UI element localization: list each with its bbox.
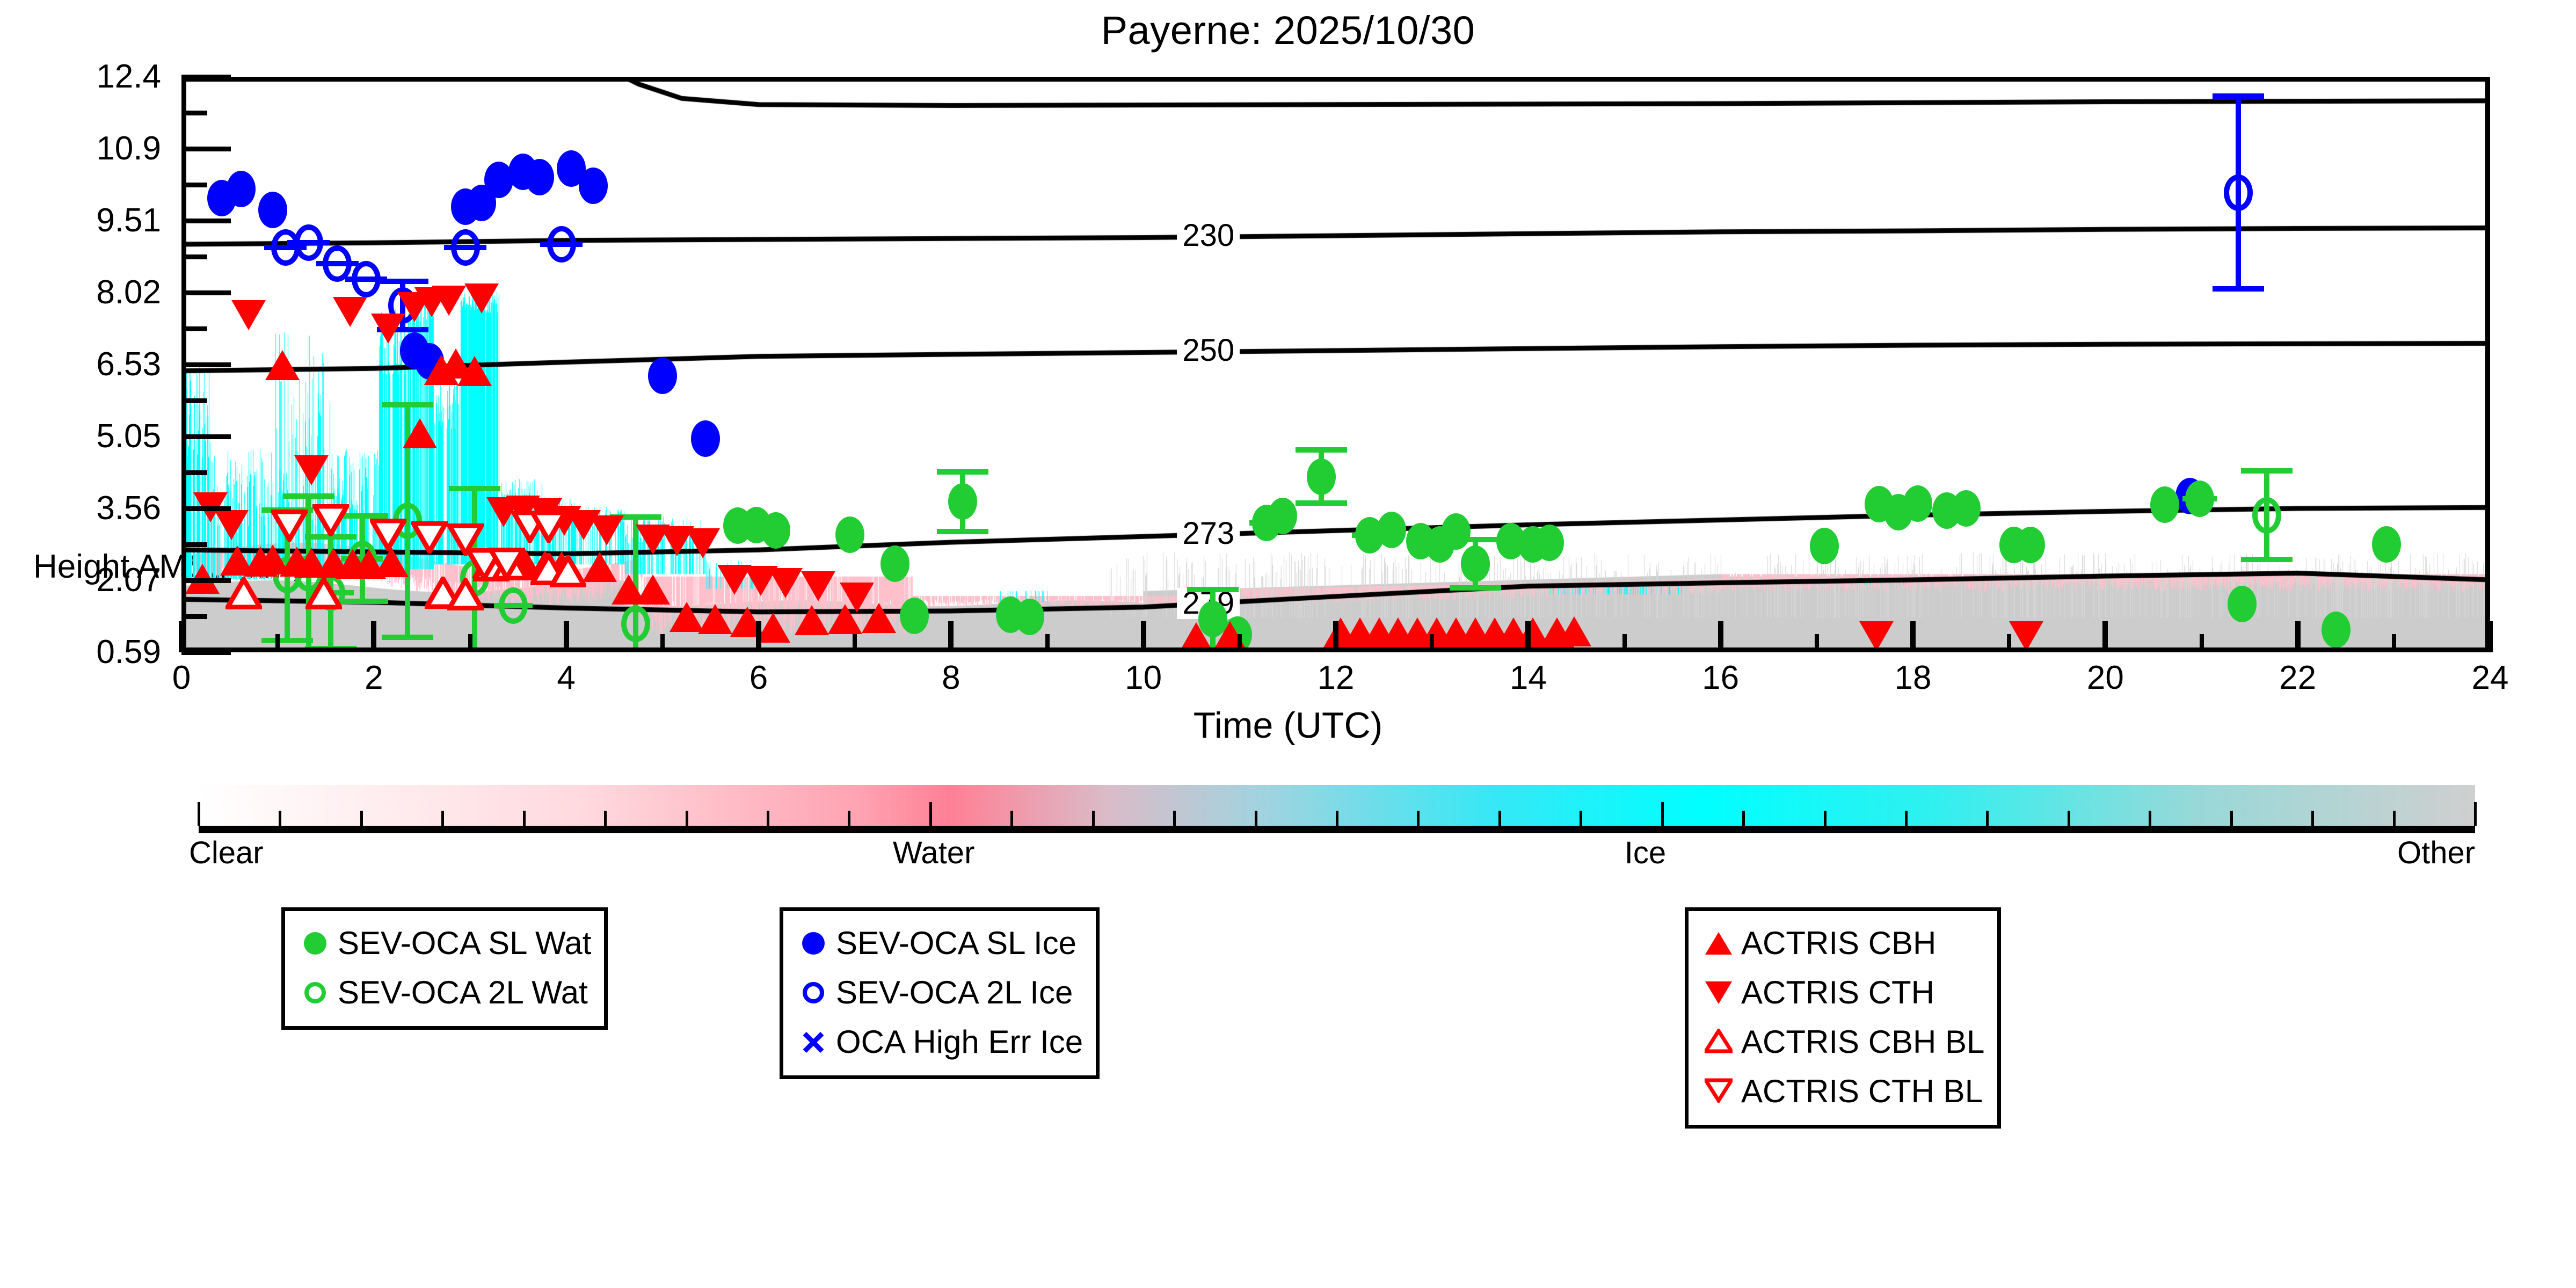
x-minor-tick <box>2200 634 2204 652</box>
colorbar-tick <box>198 802 200 826</box>
colorbar-label: Other <box>2397 838 2475 869</box>
colorbar-tick <box>2068 811 2070 826</box>
y-tick-label: 8.02 <box>0 276 161 309</box>
y-tick-label: 9.51 <box>0 204 161 237</box>
legend-label: ACTRIS CBH BL <box>1738 1026 1984 1058</box>
y-minor-tick <box>181 398 207 403</box>
y-minor-tick <box>181 183 207 187</box>
filled-circle-icon <box>304 932 326 955</box>
plot-frame <box>181 77 2490 652</box>
x-tick-label: 18 <box>1859 661 1967 695</box>
actris-legend: ACTRIS CBHACTRIS CTHACTRIS CBH BLACTRIS … <box>1685 907 2001 1129</box>
x-minor-tick <box>1622 634 1627 652</box>
legend-label: SEV-OCA 2L Wat <box>334 977 588 1009</box>
x-minor-tick <box>853 634 857 652</box>
x-minor-tick <box>275 634 280 652</box>
x-tick-mark <box>756 621 761 652</box>
x-tick-label: 2 <box>320 661 427 695</box>
x-tick-label: 10 <box>1090 661 1197 695</box>
colorbar-tick <box>1336 811 1338 826</box>
x-tick-mark <box>179 621 184 652</box>
x-tick-mark <box>371 621 376 652</box>
colorbar-tick <box>2474 802 2477 826</box>
colorbar-tick <box>441 811 444 826</box>
colorbar-tick <box>686 811 688 826</box>
y-tick-label: 12.4 <box>0 60 161 93</box>
cross-icon <box>801 1030 826 1054</box>
x-minor-tick <box>1238 634 1242 652</box>
x-tick-label: 20 <box>2051 661 2159 695</box>
y-tick-mark <box>181 578 231 583</box>
colorbar-label: Water <box>893 838 975 869</box>
x-tick-label: 0 <box>128 661 235 695</box>
colorbar-tick <box>1417 811 1420 826</box>
x-minor-tick <box>1045 634 1050 652</box>
colorbar-tick <box>929 802 932 826</box>
x-tick-mark <box>1910 621 1916 652</box>
x-tick-label: 14 <box>1474 661 1582 695</box>
colorbar-tick <box>1661 802 1664 826</box>
open-circle-icon <box>803 982 824 1003</box>
colorbar-tick <box>2230 811 2233 826</box>
y-minor-tick <box>181 470 207 475</box>
colorbar-tick <box>604 811 607 826</box>
colorbar-tick <box>279 811 281 826</box>
page-title: Payerne: 2025/10/30 <box>0 8 2576 53</box>
x-tick-mark <box>2487 621 2493 652</box>
legend-label: OCA High Err Ice <box>833 1026 1083 1058</box>
colorbar-label: Ice <box>1625 838 1666 869</box>
legend-item[interactable]: ACTRIS CTH BL <box>1699 1067 1984 1116</box>
legend-item[interactable]: ACTRIS CTH <box>1699 968 1984 1017</box>
x-tick-mark <box>1525 621 1531 652</box>
x-tick-label: 24 <box>2436 661 2544 695</box>
filled-circle-icon <box>802 932 825 955</box>
legend-label: SEV-OCA SL Wat <box>334 927 591 959</box>
legend-item[interactable]: SEV-OCA 2L Wat <box>296 968 591 1017</box>
y-tick-label: 5.05 <box>0 420 161 453</box>
x-tick-label: 16 <box>1667 661 1774 695</box>
colorbar-tick <box>1092 811 1095 826</box>
x-minor-tick <box>660 634 665 652</box>
colorbar-tick <box>2149 811 2151 826</box>
colorbar-tick <box>848 811 850 826</box>
y-tick-mark <box>181 362 231 367</box>
colorbar-tick <box>1010 811 1013 826</box>
x-tick-mark <box>2102 621 2108 652</box>
colorbar-tick <box>1580 811 1582 826</box>
x-tick-label: 4 <box>513 661 620 695</box>
x-tick-label: 12 <box>1282 661 1389 695</box>
colorbar-axis <box>199 826 2475 833</box>
y-tick-mark <box>181 506 231 511</box>
y-minor-tick <box>181 111 207 115</box>
x-tick-mark <box>1333 621 1338 652</box>
colorbar-tick <box>360 811 363 826</box>
open-triangle-down-icon <box>1705 1078 1733 1105</box>
legend-label: ACTRIS CTH <box>1738 977 1934 1009</box>
colorbar-tick <box>767 811 769 826</box>
x-tick-label: 6 <box>705 661 812 695</box>
colorbar-tick <box>1905 811 1908 826</box>
x-minor-tick <box>468 634 472 652</box>
colorbar-label: Clear <box>189 838 264 869</box>
y-tick-label: 10.9 <box>0 132 161 165</box>
x-minor-tick <box>2392 634 2396 652</box>
legend-item[interactable]: OCA High Err Ice <box>794 1017 1083 1067</box>
colorbar-tick <box>2311 811 2314 826</box>
legend-label: SEV-OCA SL Ice <box>833 927 1076 959</box>
y-tick-mark <box>181 650 231 655</box>
colorbar-tick <box>1498 811 1501 826</box>
ice-legend: SEV-OCA SL IceSEV-OCA 2L IceOCA High Err… <box>780 907 1100 1079</box>
y-tick-label: 6.53 <box>0 348 161 381</box>
x-tick-label: 22 <box>2244 661 2352 695</box>
y-tick-mark <box>181 434 231 439</box>
y-tick-mark <box>181 290 231 295</box>
y-minor-tick <box>181 326 207 331</box>
x-tick-mark <box>948 621 954 652</box>
x-tick-label: 8 <box>897 661 1005 695</box>
water-legend: SEV-OCA SL WatSEV-OCA 2L Wat <box>281 907 608 1030</box>
colorbar-tick <box>1173 811 1176 826</box>
x-axis-title: Time (UTC) <box>0 704 2576 746</box>
legend-item[interactable]: SEV-OCA SL Wat <box>296 919 591 968</box>
x-tick-mark <box>2295 621 2301 652</box>
legend-item[interactable]: ACTRIS CBH BL <box>1699 1017 1984 1067</box>
y-tick-mark <box>181 147 231 151</box>
legend-label: ACTRIS CBH <box>1738 927 1936 959</box>
colorbar-tick <box>1255 811 1257 826</box>
x-minor-tick <box>1430 634 1434 652</box>
y-minor-tick <box>181 542 207 547</box>
triangle-down-icon <box>1705 981 1732 1004</box>
legend-label: SEV-OCA 2L Ice <box>833 977 1073 1009</box>
y-minor-tick <box>181 614 207 619</box>
colorbar-tick <box>1824 811 1827 826</box>
y-tick-mark <box>181 75 231 79</box>
open-circle-icon <box>304 982 326 1003</box>
open-triangle-up-icon <box>1705 1029 1733 1056</box>
colorbar-tick <box>1986 811 1989 826</box>
x-tick-mark <box>1718 621 1723 652</box>
colorbar-tick <box>1742 811 1745 826</box>
legend-item[interactable]: SEV-OCA 2L Ice <box>794 968 1083 1017</box>
x-tick-mark <box>1141 621 1146 652</box>
legend-item[interactable]: ACTRIS CBH <box>1699 919 1984 968</box>
x-minor-tick <box>1815 634 1819 652</box>
y-tick-mark <box>181 219 231 223</box>
triangle-up-icon <box>1705 932 1732 955</box>
colorbar-tick <box>523 811 526 826</box>
legend-item[interactable]: SEV-OCA SL Ice <box>794 919 1083 968</box>
y-tick-label: 2.07 <box>0 564 161 597</box>
x-minor-tick <box>2007 634 2011 652</box>
colorbar-tick <box>2393 811 2396 826</box>
y-minor-tick <box>181 254 207 259</box>
y-tick-label: 3.56 <box>0 492 161 525</box>
legend-label: ACTRIS CTH BL <box>1738 1075 1983 1108</box>
x-tick-mark <box>564 621 569 652</box>
